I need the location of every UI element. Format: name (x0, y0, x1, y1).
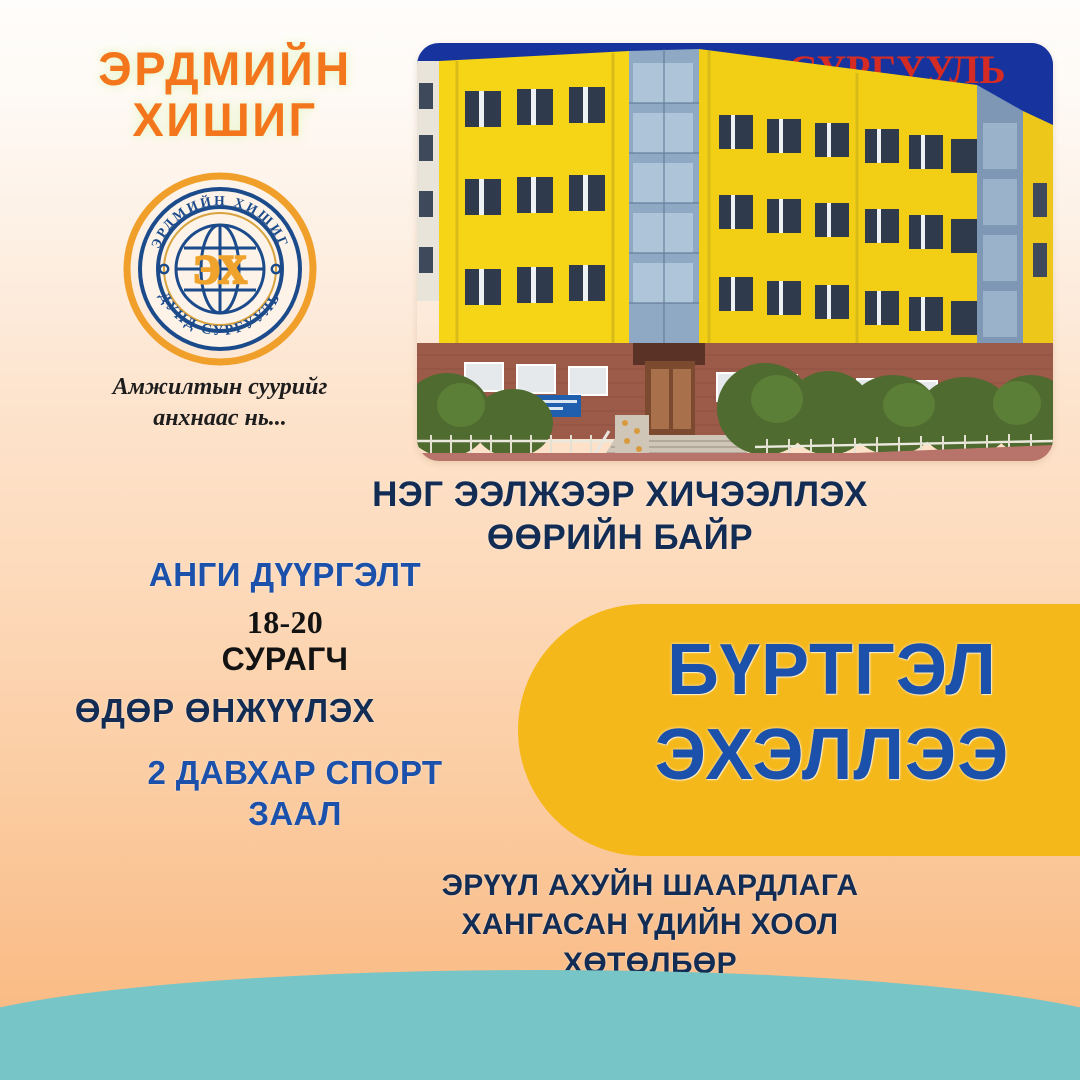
school-seal-logo: ЭХ ЭРДМИЙН ХИШИГ ДУНД СУРГУУЛЬ (122, 171, 318, 367)
feature-meals: ЭРҮҮЛ АХУЙН ШААРДЛАГА ХАНГАСАН ҮДИЙН ХОО… (330, 866, 970, 983)
own-building-line-2: ӨӨРИЙН БАЙР (300, 517, 940, 560)
registration-line-2: ЭХЭЛЛЭЭ (608, 713, 1056, 798)
bottom-wave-decoration (0, 970, 1080, 1080)
class-fill-count-number: 18-20 (60, 604, 510, 641)
own-building-line-1: НЭГ ЭЭЛЖЭЭР ХИЧЭЭЛЛЭХ (300, 474, 940, 517)
gym-line-1: 2 ДАВХАР СПОРТ (60, 752, 530, 793)
feature-class-fill-label: АНГИ ДҮҮРГЭЛТ (60, 556, 510, 594)
logo-monogram: ЭХ (193, 247, 247, 292)
meals-line-1: ЭРҮҮЛ АХУЙН ШААРДЛАГА (330, 866, 970, 905)
feature-gym: 2 ДАВХАР СПОРТ ЗААЛ (60, 752, 530, 835)
tagline-line-1: Амжилтын суурийг (70, 372, 370, 403)
feature-class-fill-count: 18-20 СУРАГЧ (60, 604, 510, 678)
daycare-label: ӨДӨР ӨНЖҮҮЛЭХ (10, 692, 440, 730)
tagline-line-2: анхнаас нь... (70, 403, 370, 434)
class-fill-label: АНГИ ДҮҮРГЭЛТ (60, 556, 510, 594)
registration-callout: БҮРТГЭЛ ЭХЭЛЛЭЭ (608, 628, 1056, 798)
registration-line-1: БҮРТГЭЛ (608, 628, 1056, 713)
feature-own-building: НЭГ ЭЭЛЖЭЭР ХИЧЭЭЛЛЭХ ӨӨРИЙН БАЙР (300, 474, 940, 559)
gym-line-2: ЗААЛ (60, 793, 530, 834)
page-title: ЭРДМИЙН ХИШИГ (40, 44, 410, 146)
brand-title-line-1: ЭРДМИЙН (40, 44, 410, 95)
school-building-photo: СУРГУУЛЬ (417, 43, 1053, 461)
brand-title-line-2: ХИШИГ (40, 95, 410, 146)
feature-daycare: ӨДӨР ӨНЖҮҮЛЭХ (10, 692, 440, 730)
meals-line-2: ХАНГАСАН ҮДИЙН ХООЛ (330, 905, 970, 944)
poster-canvas: ЭРДМИЙН ХИШИГ (0, 0, 1080, 1080)
school-tagline: Амжилтын суурийг анхнаас нь... (70, 372, 370, 434)
class-fill-count-unit: СУРАГЧ (60, 641, 510, 678)
